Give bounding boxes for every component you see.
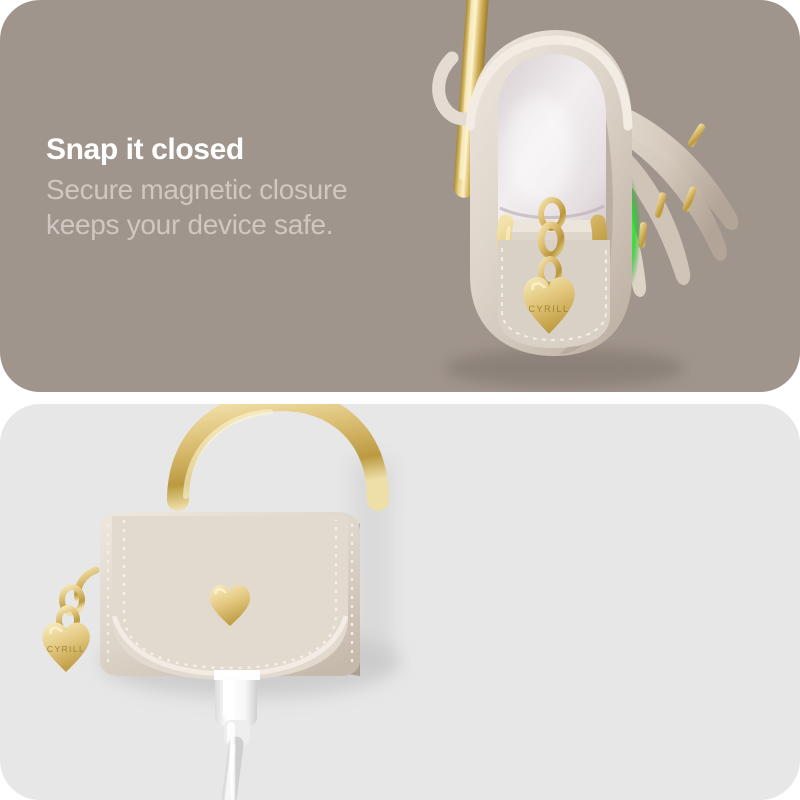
subline-snap-it-closed-line2: keeps your device safe.	[46, 207, 347, 242]
subline-snap-it-closed-line1: Secure magnetic closure	[46, 172, 347, 207]
gold-ring-handle	[178, 404, 378, 500]
panel-snap-it-closed: CYRILL Snap it closed Secure magnetic cl…	[0, 0, 800, 392]
heart-charm-engraving-bottom: CYRILL	[47, 644, 85, 654]
product-feature-graphic: CYRILL Snap it closed Secure magnetic cl…	[0, 0, 800, 800]
heart-charm-left: CYRILL	[42, 570, 96, 672]
closed-case-illustration: CYRILL	[0, 404, 800, 800]
headline-snap-it-closed: Snap it closed	[46, 133, 347, 168]
panel-easy-access: CYRILL Easy access Precise cutouts for w…	[0, 404, 800, 800]
heart-charm-engraving-top: CYRILL	[528, 304, 569, 314]
copy-block-snap-it-closed: Snap it closed Secure magnetic closure k…	[46, 133, 347, 242]
